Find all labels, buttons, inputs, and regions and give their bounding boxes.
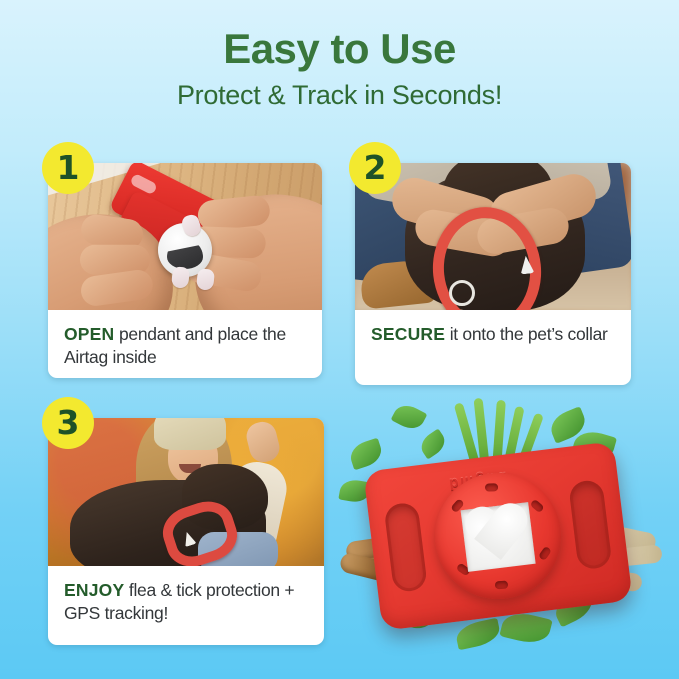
- step-caption-2: SECURE it onto the pet’s collar: [355, 310, 631, 385]
- step-keyword-3: ENJOY: [64, 580, 124, 600]
- step-keyword-1: OPEN: [64, 324, 114, 344]
- step-photo-2: [355, 163, 631, 310]
- vent-hole: [530, 499, 545, 514]
- collar-ring: [449, 280, 475, 306]
- hero-product-group: bugmd: [336, 398, 666, 668]
- pendant-strap-slot-left: [383, 502, 427, 593]
- step-photo-1: bugmd: [48, 163, 322, 310]
- step-badge-2: 2: [349, 142, 401, 194]
- heart-cutout: [461, 502, 536, 572]
- step-badge-3: 3: [42, 397, 94, 449]
- step-caption-1: OPEN pendant and place the Airtag inside: [48, 310, 322, 378]
- infographic-canvas: Easy to Use Protect & Track in Seconds! …: [0, 0, 679, 679]
- mint-leaf: [347, 438, 385, 471]
- airtag-pendant-product: bugmd: [363, 441, 633, 631]
- herb-leaf: [454, 618, 502, 651]
- mint-leaf: [417, 428, 450, 459]
- vent-hole: [495, 581, 508, 590]
- step-caption-3: ENJOY flea & tick protection + GPS track…: [48, 566, 324, 645]
- pendant-slot-left: [129, 173, 158, 195]
- step-keyword-2: SECURE: [371, 324, 445, 344]
- page-title: Easy to Use: [0, 28, 679, 70]
- header: Easy to Use Protect & Track in Seconds!: [0, 28, 679, 109]
- step-card-3: ENJOY flea & tick protection + GPS track…: [48, 418, 324, 645]
- step-badge-1: 1: [42, 142, 94, 194]
- mint-leaf: [391, 400, 428, 434]
- step-card-1: bugmd OPEN pendant and place the Airtag …: [48, 163, 322, 378]
- step-text-2: it onto the pet’s collar: [445, 324, 607, 344]
- beanie-hat: [154, 418, 226, 450]
- step-card-2: SECURE it onto the pet’s collar: [355, 163, 631, 385]
- vent-hole: [485, 483, 498, 491]
- pendant-strap-slot-right: [568, 479, 612, 570]
- page-subtitle: Protect & Track in Seconds!: [0, 82, 679, 109]
- step-photo-3: [48, 418, 324, 566]
- vent-hole: [538, 546, 552, 561]
